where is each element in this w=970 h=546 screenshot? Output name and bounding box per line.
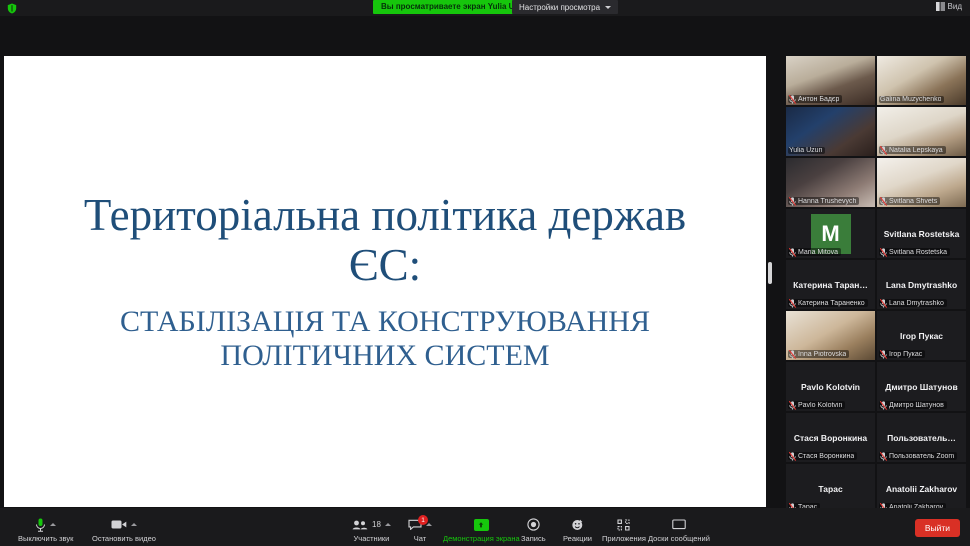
participant-name-badge: Стася Воронкина xyxy=(788,452,857,460)
record-label: Запись xyxy=(521,534,546,543)
share-screen-icon xyxy=(474,519,489,531)
participant-tile[interactable]: Ігор ПукасІгор Пукас xyxy=(877,311,966,360)
camera-icon xyxy=(111,519,127,530)
view-settings-button[interactable]: Настройки просмотра xyxy=(512,0,618,14)
participant-name-badge: Антон Бадєр xyxy=(788,95,842,103)
mic-muted-icon xyxy=(789,401,796,409)
participant-name-badge: Lana Dmytrashko xyxy=(879,299,947,307)
participant-tile[interactable]: ТарасТарас xyxy=(786,464,875,513)
mic-muted-icon xyxy=(880,299,887,307)
grid-view-icon xyxy=(936,2,945,11)
participant-tile[interactable]: Galina Muzychenko xyxy=(877,56,966,105)
reactions-label: Реакции xyxy=(563,534,592,543)
participant-badge-name: Maria Mitova xyxy=(798,249,838,256)
participant-name: Тарас xyxy=(814,484,846,494)
participant-tile[interactable]: Inna Piotrovska xyxy=(786,311,875,360)
slide-title: Територіальна політика держав ЄС: xyxy=(65,190,705,291)
participant-tile[interactable]: Hanna Trushevych xyxy=(786,158,875,207)
mic-muted-icon xyxy=(880,197,887,205)
participant-name: Lana Dmytrashko xyxy=(882,280,961,290)
whiteboard-button[interactable]: Доски сообщений xyxy=(648,517,710,543)
participant-name: Ігор Пукас xyxy=(896,331,947,341)
participant-name: Дмитро Шатунов xyxy=(881,382,961,392)
apps-icon xyxy=(617,519,630,531)
mic-muted-icon xyxy=(880,452,887,460)
slide-subtitle: СТАБІЛІЗАЦІЯ ТА КОНСТРУЮВАННЯ ПОЛІТИЧНИХ… xyxy=(55,305,715,373)
reactions-icon xyxy=(571,518,584,531)
chat-button[interactable]: 1 Чат xyxy=(408,517,432,543)
participant-name-badge: Пользователь Zoom xyxy=(879,452,957,460)
participant-tile[interactable]: MMaria Mitova xyxy=(786,209,875,258)
participant-badge-name: Svitlana Shvets xyxy=(889,198,937,205)
record-button[interactable]: Запись xyxy=(521,517,546,543)
shield-icon xyxy=(6,3,17,14)
participant-name-badge: Inna Piotrovska xyxy=(788,350,849,358)
mute-label: Выключить звук xyxy=(18,534,73,543)
participant-name-badge: Дмитро Шатунов xyxy=(879,401,947,409)
participant-badge-name: Hanna Trushevych xyxy=(798,198,856,205)
participant-tile[interactable]: Anatolii ZakharovAnatolii Zakharov xyxy=(877,464,966,513)
reactions-button[interactable]: Реакции xyxy=(563,517,592,543)
participant-name-badge: Maria Mitova xyxy=(788,248,841,256)
participant-badge-name: Natalia Lepskaya xyxy=(889,147,943,154)
participant-tile[interactable]: Антон Бадєр xyxy=(786,56,875,105)
participants-label: Участники xyxy=(354,534,390,543)
participant-name-badge: Катерина Тараненко xyxy=(788,299,868,307)
participant-tile[interactable]: Lana DmytrashkoLana Dmytrashko xyxy=(877,260,966,309)
participant-name: Svitlana Rostetska xyxy=(880,229,964,239)
participant-badge-name: Катерина Тараненко xyxy=(798,300,865,307)
whiteboard-icon xyxy=(672,519,686,531)
participant-badge-name: Inna Piotrovska xyxy=(798,351,846,358)
mic-muted-icon xyxy=(789,197,796,205)
participant-name: Стася Воронкина xyxy=(790,433,871,443)
participant-badge-name: Дмитро Шатунов xyxy=(889,402,944,409)
mic-muted-icon xyxy=(789,248,796,256)
participant-name-badge: Hanna Trushevych xyxy=(788,197,859,205)
chat-chevron-icon[interactable] xyxy=(426,523,432,526)
participant-name-badge: Svitlana Shvets xyxy=(879,197,940,205)
participant-name-badge: Ігор Пукас xyxy=(879,350,925,358)
participant-badge-name: Стася Воронкина xyxy=(798,453,854,460)
participant-name: Пользователь… xyxy=(883,433,960,443)
participant-badge-name: Svitlana Rostetska xyxy=(889,249,947,256)
participant-name: Anatolii Zakharov xyxy=(882,484,961,494)
mic-muted-icon xyxy=(880,146,887,154)
zoom-meeting-window: Вы просматриваете экран Yulia Uzun Настр… xyxy=(0,0,970,546)
stop-video-button[interactable]: Остановить видео xyxy=(92,517,156,543)
participants-button[interactable]: 18 Участники xyxy=(352,517,391,543)
whiteboard-label: Доски сообщений xyxy=(648,534,710,543)
participant-badge-name: Антон Бадєр xyxy=(798,96,839,103)
participant-badge-name: Yulia Uzun xyxy=(789,147,822,154)
participant-name-badge: Svitlana Rostetska xyxy=(879,248,950,256)
participant-video-panel[interactable]: Антон БадєрGalina MuzychenkoYulia UzunNa… xyxy=(786,56,966,508)
top-bar: Вы просматриваете экран Yulia Uzun Настр… xyxy=(0,0,970,16)
leave-meeting-button[interactable]: Выйти xyxy=(915,519,960,537)
mic-muted-icon xyxy=(880,401,887,409)
participants-icon xyxy=(352,520,368,530)
share-screen-button[interactable]: Демонстрация экрана xyxy=(443,517,520,543)
participant-tile[interactable]: Yulia Uzun xyxy=(786,107,875,156)
participant-name: Pavlo Kolotvin xyxy=(797,382,864,392)
chat-unread-badge: 1 xyxy=(418,515,428,525)
apps-label: Приложения xyxy=(602,534,646,543)
participant-tile[interactable]: Катерина Таран…Катерина Тараненко xyxy=(786,260,875,309)
participant-tile[interactable]: Svitlana RostetskaSvitlana Rostetska xyxy=(877,209,966,258)
mic-muted-icon xyxy=(880,248,887,256)
chat-label: Чат xyxy=(414,534,426,543)
share-screen-label: Демонстрация экрана xyxy=(443,534,520,543)
participants-count: 18 xyxy=(372,520,381,529)
view-settings-label: Настройки просмотра xyxy=(519,3,600,12)
meeting-toolbar: Выключить звук Остановить видео xyxy=(0,508,970,546)
presentation-slide: Територіальна політика держав ЄС: СТАБІЛ… xyxy=(4,56,766,507)
video-options-chevron-icon[interactable] xyxy=(131,523,137,526)
participant-badge-name: Пользователь Zoom xyxy=(889,453,954,460)
participant-name-badge: Galina Muzychenko xyxy=(879,96,944,103)
participant-name-badge: Pavlo Kolotvin xyxy=(788,401,845,409)
mic-muted-icon xyxy=(789,452,796,460)
participant-tile[interactable]: Стася ВоронкинаСтася Воронкина xyxy=(786,413,875,462)
apps-button[interactable]: Приложения xyxy=(602,517,646,543)
microphone-icon xyxy=(35,518,46,532)
shared-screen-stage: Територіальна політика держав ЄС: СТАБІЛ… xyxy=(4,56,766,507)
stop-video-label: Остановить видео xyxy=(92,534,156,543)
participant-tile[interactable]: Natalia Lepskaya xyxy=(877,107,966,156)
view-mode-button[interactable]: Вид xyxy=(936,2,962,11)
mic-muted-icon xyxy=(789,95,796,103)
participant-tile[interactable]: Пользователь…Пользователь Zoom xyxy=(877,413,966,462)
mute-button[interactable]: Выключить звук xyxy=(18,517,73,543)
chevron-down-icon xyxy=(605,6,611,9)
participant-name-badge: Yulia Uzun xyxy=(788,147,825,154)
participant-badge-name: Pavlo Kolotvin xyxy=(798,402,842,409)
participant-name-badge: Natalia Lepskaya xyxy=(879,146,946,154)
participant-badge-name: Galina Muzychenko xyxy=(880,96,941,103)
mic-muted-icon xyxy=(880,350,887,358)
participant-tile[interactable]: Pavlo KolotvinPavlo Kolotvin xyxy=(786,362,875,411)
chat-icon: 1 xyxy=(408,519,422,530)
participant-name: Катерина Таран… xyxy=(789,280,872,290)
participants-chevron-icon[interactable] xyxy=(385,523,391,526)
record-icon xyxy=(527,518,540,531)
participant-badge-name: Ігор Пукас xyxy=(889,351,922,358)
mic-muted-icon xyxy=(789,299,796,307)
mic-muted-icon xyxy=(789,350,796,358)
participant-tile[interactable]: Дмитро ШатуновДмитро Шатунов xyxy=(877,362,966,411)
view-mode-label: Вид xyxy=(948,2,962,11)
participant-badge-name: Lana Dmytrashko xyxy=(889,300,944,307)
audio-options-chevron-icon[interactable] xyxy=(50,523,56,526)
participant-tile[interactable]: Svitlana Shvets xyxy=(877,158,966,207)
panel-resize-handle[interactable] xyxy=(768,262,772,284)
